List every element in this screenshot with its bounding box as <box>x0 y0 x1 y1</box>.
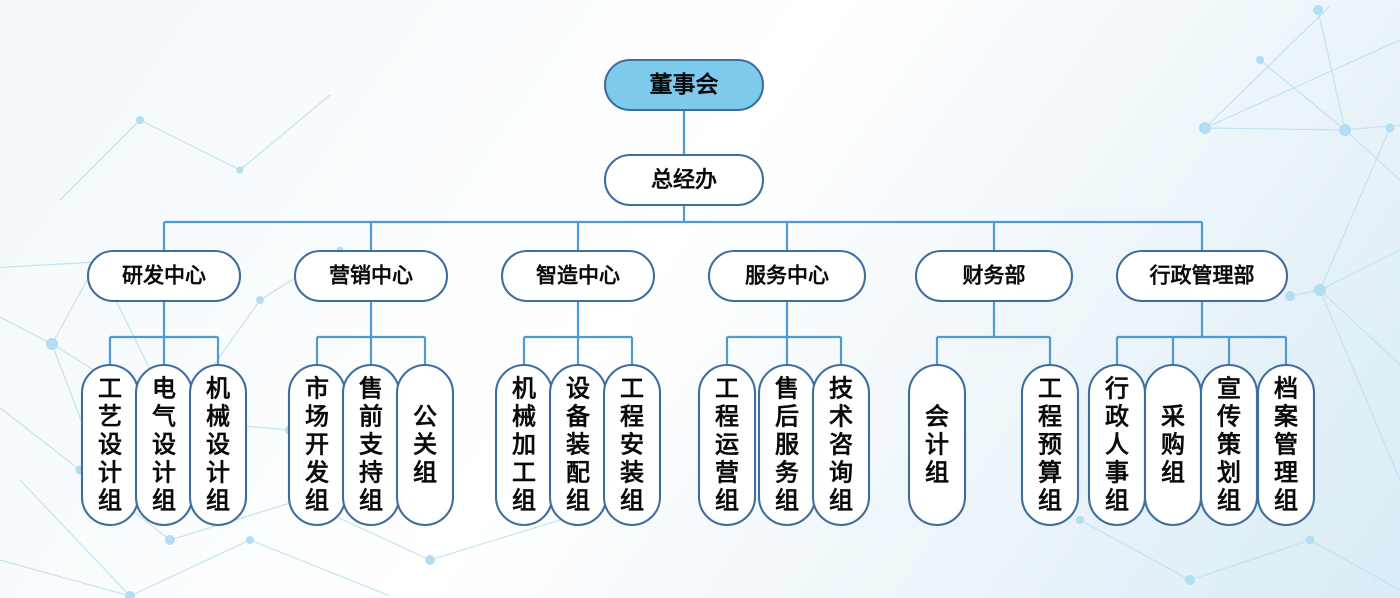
leaf-label-vertical: 工程预算组 <box>1038 375 1062 514</box>
leaf-label-vertical: 机械设计组 <box>206 375 230 514</box>
leaf-label-char: 组 <box>1217 487 1241 514</box>
leaf-label-char: 组 <box>512 487 536 514</box>
leaf-label-char: 采 <box>1161 403 1185 430</box>
org-leaf-presales-support-team[interactable]: 售前支持组 <box>343 365 399 525</box>
org-node-rd-center[interactable]: 研发中心 <box>88 251 240 301</box>
org-node-board[interactable]: 董事会 <box>605 60 763 110</box>
leaf-label-char: 技 <box>829 375 854 402</box>
leaf-label-char: 组 <box>1038 487 1062 514</box>
org-leaf-public-relations-team[interactable]: 公关组 <box>397 365 453 525</box>
leaf-label-char: 设 <box>566 375 590 402</box>
leaf-label-char: 组 <box>305 487 329 514</box>
leaf-label-char: 气 <box>151 402 176 430</box>
org-leaf-market-development-team[interactable]: 市场开发组 <box>289 365 345 525</box>
node-label: 董事会 <box>650 71 719 97</box>
org-node-administration-department[interactable]: 行政管理部 <box>1117 251 1287 301</box>
leaf-label-char: 公 <box>413 403 437 430</box>
org-leaf-electrical-design-team[interactable]: 电气设计组 <box>136 365 192 525</box>
org-chart-page: 研发中心工艺设计组电气设计组机械设计组营销中心市场开发组售前支持组公关组智造中心… <box>0 0 1400 598</box>
org-leaf-machining-team[interactable]: 机械加工组 <box>496 365 552 525</box>
org-node-smart-manufacturing-center[interactable]: 智造中心 <box>502 251 654 301</box>
org-node-finance-department[interactable]: 财务部 <box>916 251 1072 301</box>
leaf-label-char: 组 <box>152 487 176 514</box>
leaf-label-char: 设 <box>152 431 176 458</box>
leaf-label-char: 装 <box>620 459 644 486</box>
org-leaf-technical-consulting-team[interactable]: 技术咨询组 <box>813 365 869 525</box>
leaf-label-vertical: 机械加工组 <box>512 375 536 514</box>
org-leaf-publicity-planning-team[interactable]: 宣传策划组 <box>1201 365 1257 525</box>
leaf-label-char: 计 <box>206 459 230 486</box>
leaf-label-char: 务 <box>775 458 800 486</box>
node-label: 行政管理部 <box>1149 264 1255 288</box>
leaf-label-char: 预 <box>1038 431 1062 458</box>
node-label: 财务部 <box>963 264 1026 288</box>
leaf-label-vertical: 设备装配组 <box>565 375 591 514</box>
leaf-label-char: 支 <box>359 431 384 458</box>
leaf-label-char: 安 <box>620 430 644 458</box>
leaf-label-vertical: 工程安装组 <box>620 375 644 514</box>
org-leaf-accounting-team[interactable]: 会计组 <box>909 365 965 525</box>
leaf-label-char: 械 <box>512 403 536 430</box>
leaf-label-char: 传 <box>1216 403 1241 430</box>
org-leaf-admin-hr-team[interactable]: 行政人事组 <box>1089 365 1145 525</box>
leaf-label-char: 设 <box>206 431 230 458</box>
org-leaf-engineering-operations-team[interactable]: 工程运营组 <box>699 365 755 525</box>
leaf-label-char: 机 <box>206 375 230 402</box>
leaf-label-char: 组 <box>1274 487 1298 514</box>
leaf-label-vertical: 宣传策划组 <box>1216 374 1242 514</box>
leaf-label-char: 发 <box>304 458 329 486</box>
leaf-label-char: 算 <box>1038 458 1062 486</box>
org-leaf-equipment-assembly-team[interactable]: 设备装配组 <box>550 365 606 525</box>
leaf-label-char: 机 <box>512 375 536 402</box>
organization-chart: 研发中心工艺设计组电气设计组机械设计组营销中心市场开发组售前支持组公关组智造中心… <box>0 0 1400 598</box>
leaf-label-char: 程 <box>715 403 739 430</box>
leaf-label-char: 电 <box>152 375 176 402</box>
leaf-label-char: 组 <box>1161 459 1185 486</box>
leaf-label-char: 工 <box>715 375 739 402</box>
node-label: 服务中心 <box>745 264 829 288</box>
org-node-marketing-center[interactable]: 营销中心 <box>295 251 447 301</box>
node-group: 研发中心工艺设计组电气设计组机械设计组营销中心市场开发组售前支持组公关组智造中心… <box>82 60 1314 525</box>
leaf-label-char: 装 <box>566 431 590 458</box>
leaf-label-char: 市 <box>305 374 329 402</box>
connector-group <box>110 110 1286 365</box>
leaf-label-char: 宣 <box>1217 374 1241 402</box>
leaf-label-char: 加 <box>512 431 536 458</box>
leaf-label-char: 备 <box>565 402 591 430</box>
leaf-label-char: 配 <box>566 459 590 486</box>
leaf-label-char: 艺 <box>98 403 122 430</box>
leaf-label-char: 运 <box>715 431 739 458</box>
leaf-label-char: 程 <box>1038 403 1062 430</box>
leaf-label-char: 术 <box>829 403 853 430</box>
leaf-label-char: 会 <box>925 402 949 430</box>
leaf-label-char: 行 <box>1104 374 1129 402</box>
org-leaf-engineering-budget-team[interactable]: 工程预算组 <box>1022 365 1078 525</box>
leaf-label-char: 组 <box>620 487 644 514</box>
leaf-label-vertical: 档案管理组 <box>1273 375 1299 514</box>
leaf-label-char: 前 <box>359 402 383 430</box>
node-label: 营销中心 <box>329 264 413 288</box>
leaf-label-char: 服 <box>775 431 800 458</box>
org-leaf-engineering-installation-team[interactable]: 工程安装组 <box>604 365 660 525</box>
leaf-label-char: 售 <box>359 374 383 402</box>
leaf-label-vertical: 工艺设计组 <box>98 375 122 514</box>
leaf-label-char: 营 <box>715 459 739 486</box>
leaf-label-char: 政 <box>1105 403 1129 430</box>
leaf-label-vertical: 行政人事组 <box>1104 374 1129 514</box>
leaf-label-char: 策 <box>1217 430 1242 458</box>
leaf-label-char: 工 <box>620 375 644 402</box>
node-label: 智造中心 <box>536 264 620 288</box>
leaf-label-char: 事 <box>1105 459 1129 486</box>
leaf-label-vertical: 市场开发组 <box>304 374 329 514</box>
leaf-label-char: 组 <box>829 487 853 514</box>
leaf-label-char: 计 <box>925 431 949 458</box>
leaf-label-char: 工 <box>1038 375 1062 402</box>
leaf-label-char: 组 <box>775 487 799 514</box>
leaf-label-vertical: 电气设计组 <box>151 375 176 514</box>
org-leaf-after-sales-service-team[interactable]: 售后服务组 <box>759 365 815 525</box>
leaf-label-char: 械 <box>206 403 230 430</box>
leaf-label-vertical: 会计组 <box>925 402 949 486</box>
org-leaf-procurement-team[interactable]: 采购组 <box>1145 365 1201 525</box>
leaf-label-vertical: 售前支持组 <box>359 374 384 514</box>
node-label: 总经办 <box>651 167 717 192</box>
leaf-label-char: 询 <box>829 459 853 486</box>
leaf-label-char: 计 <box>98 459 122 486</box>
leaf-label-char: 人 <box>1105 431 1129 458</box>
leaf-label-char: 购 <box>1161 431 1185 458</box>
leaf-label-char: 持 <box>359 459 383 486</box>
leaf-label-char: 售 <box>775 374 799 402</box>
leaf-label-char: 咨 <box>829 431 853 458</box>
leaf-label-char: 后 <box>775 403 799 430</box>
leaf-label-char: 工 <box>98 375 122 402</box>
leaf-label-char: 组 <box>1105 487 1129 514</box>
leaf-label-char: 组 <box>566 487 590 514</box>
leaf-label-char: 关 <box>413 431 437 458</box>
leaf-label-vertical: 公关组 <box>413 403 437 486</box>
org-leaf-archives-management-team[interactable]: 档案管理组 <box>1258 365 1314 525</box>
org-node-gm-office[interactable]: 总经办 <box>605 155 763 205</box>
leaf-label-char: 组 <box>359 487 383 514</box>
leaf-label-vertical: 技术咨询组 <box>829 375 854 514</box>
leaf-label-char: 划 <box>1217 459 1241 486</box>
leaf-label-vertical: 工程运营组 <box>715 375 739 514</box>
org-leaf-mechanical-design-team[interactable]: 机械设计组 <box>190 365 246 525</box>
leaf-label-char: 组 <box>715 487 739 514</box>
leaf-label-char: 计 <box>152 459 176 486</box>
leaf-label-vertical: 售后服务组 <box>775 374 800 514</box>
leaf-label-char: 场 <box>305 403 329 430</box>
org-leaf-process-design-team[interactable]: 工艺设计组 <box>82 365 138 525</box>
leaf-label-vertical: 采购组 <box>1161 403 1185 486</box>
leaf-label-char: 理 <box>1274 459 1298 486</box>
leaf-label-char: 设 <box>98 431 122 458</box>
leaf-label-char: 管 <box>1274 430 1298 458</box>
leaf-label-char: 组 <box>98 487 122 514</box>
leaf-label-char: 工 <box>512 459 536 486</box>
leaf-label-char: 组 <box>206 487 230 514</box>
leaf-label-char: 开 <box>305 431 329 458</box>
node-label: 研发中心 <box>122 264 206 288</box>
leaf-label-char: 档 <box>1274 375 1298 402</box>
leaf-label-char: 组 <box>925 459 949 486</box>
leaf-label-char: 程 <box>620 403 644 430</box>
leaf-label-char: 案 <box>1273 402 1299 430</box>
leaf-label-char: 组 <box>413 459 437 486</box>
org-node-service-center[interactable]: 服务中心 <box>709 251 865 301</box>
